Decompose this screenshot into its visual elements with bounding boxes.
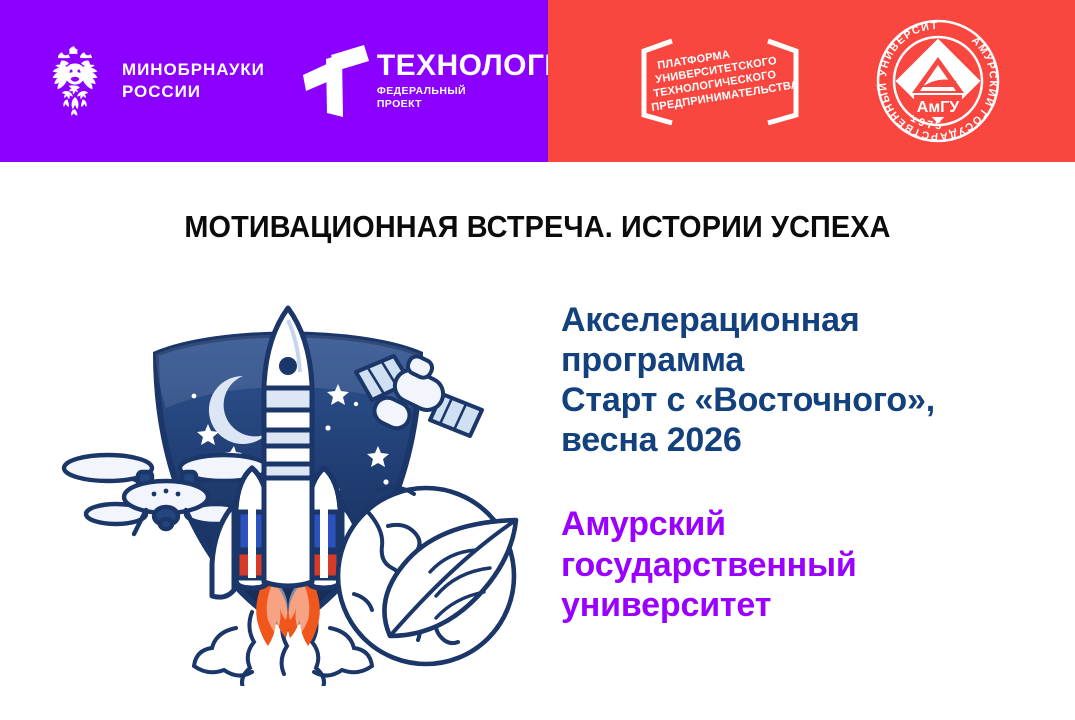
tehnologii-logo-mark-icon	[301, 41, 371, 121]
amgu-university-seal-icon: АМУРСКИЙ ГОСУДАРСТВЕННЫЙ УНИВЕРСИТЕТ 197…	[870, 13, 1006, 149]
top-banner: МИНОБРНАУКИ РОССИИ	[0, 0, 1075, 162]
program-title: Акселерационная программа Старт с «Восто…	[561, 300, 1031, 460]
platform-bracket-logo-icon: ПЛАТФОРМА УНИВЕРСИТЕТСКОГО ТЕХНОЛОГИЧЕСК…	[636, 35, 804, 127]
university-name: Амурский государственный университет	[561, 504, 1031, 624]
federal-project-lockup: ТЕХНОЛОГИИ ФЕДЕРАЛЬНЫЙ ПРОЕКТ	[301, 41, 589, 121]
poster-root: МИНОБРНАУКИ РОССИИ	[0, 0, 1075, 720]
ministry-line-1: МИНОБРНАУКИ	[122, 59, 265, 81]
ministry-lockup: МИНОБРНАУКИ РОССИИ	[44, 45, 265, 117]
ministry-line-2: РОССИИ	[122, 81, 265, 103]
space-startup-illustration	[38, 276, 538, 686]
double-headed-eagle-icon	[44, 45, 106, 117]
right-text-column: Акселерационная программа Старт с «Восто…	[561, 300, 1031, 625]
banner-red-panel: ПЛАТФОРМА УНИВЕРСИТЕТСКОГО ТЕХНОЛОГИЧЕСК…	[548, 0, 1075, 162]
ministry-name: МИНОБРНАУКИ РОССИИ	[122, 59, 265, 103]
svg-text:АмГУ: АмГУ	[917, 99, 960, 116]
page-title: МОТИВАЦИОННАЯ ВСТРЕЧА. ИСТОРИИ УСПЕХА	[38, 209, 1038, 245]
banner-purple-panel: МИНОБРНАУКИ РОССИИ	[0, 0, 548, 162]
